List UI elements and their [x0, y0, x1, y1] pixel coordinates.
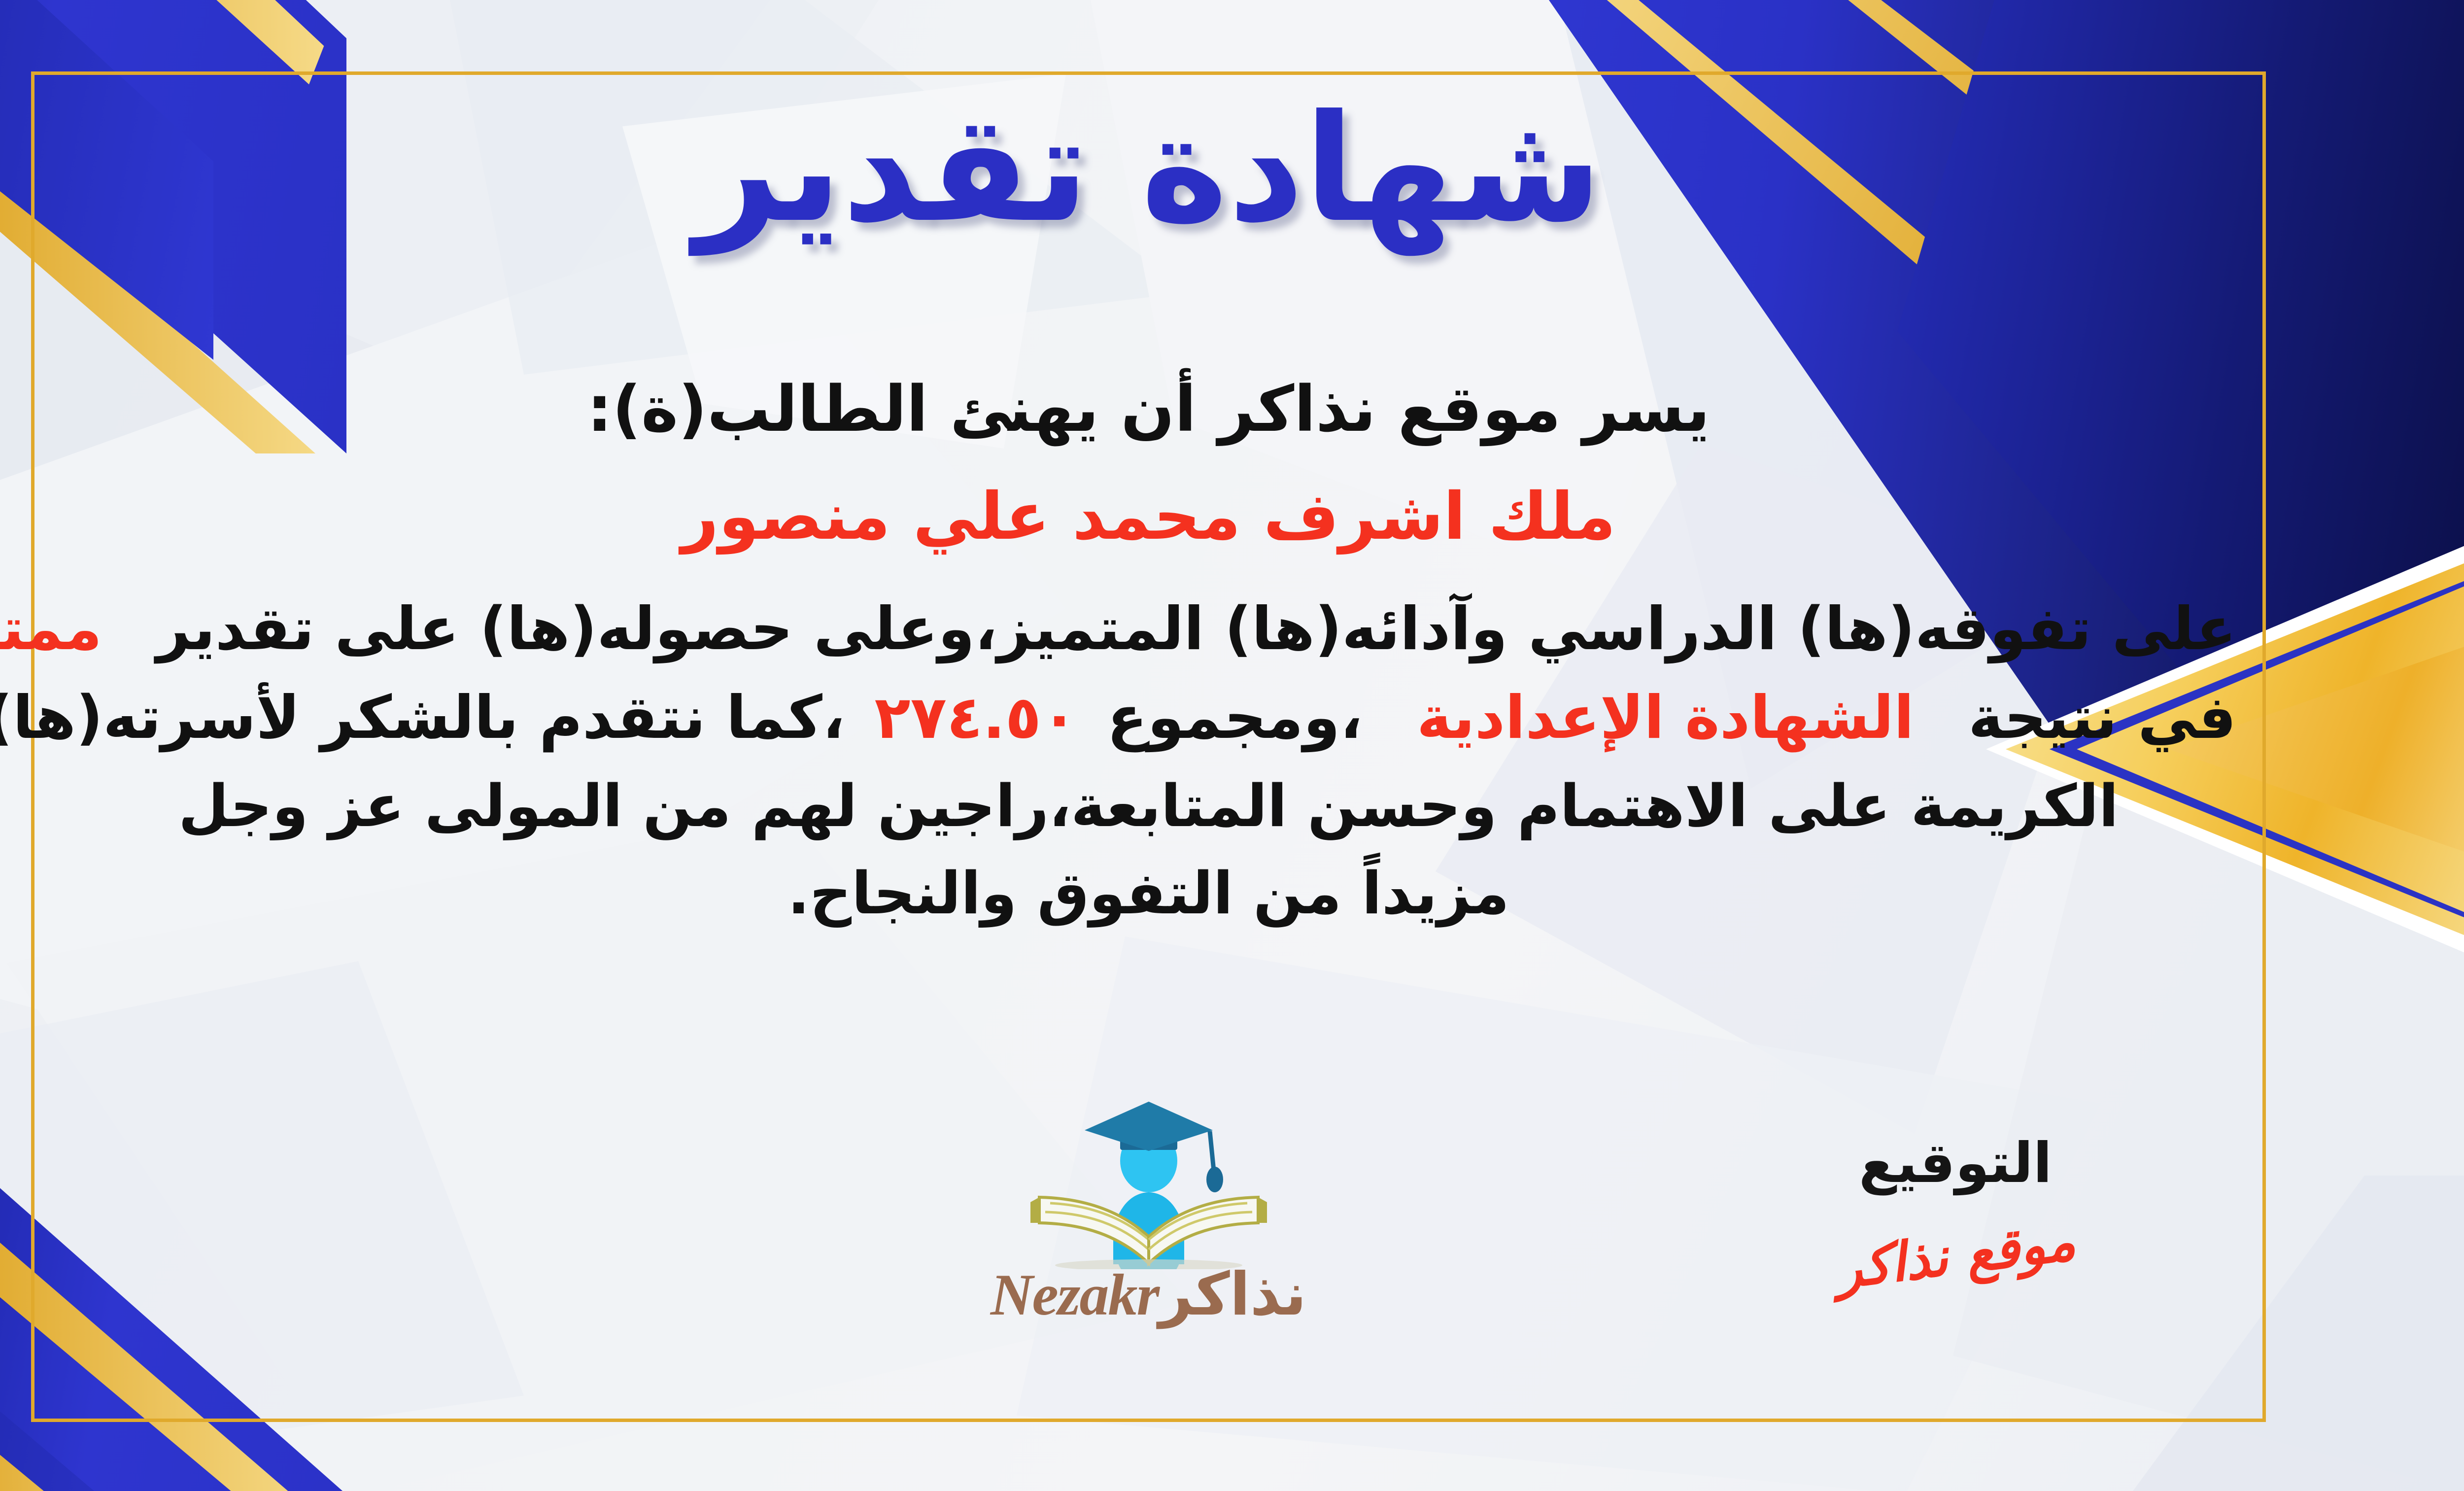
- achievement-text: على تفوقه(ها) الدراسي وآدائه(ها) المتميز…: [156, 595, 2236, 663]
- brand-logo: نذاكرNezakr: [947, 1092, 1351, 1329]
- thanks-text: ،كما نتقدم بالشكر لأسرته(ها): [0, 684, 845, 752]
- graduate-open-book-icon: [1011, 1092, 1287, 1269]
- exam-prefix: في نتيجة: [1968, 684, 2236, 752]
- signature-mark: موقع نذاكر: [1732, 1198, 2180, 1314]
- certificate-footer: التوقيع موقع نذاكر: [31, 1077, 2266, 1392]
- certificate-content: شهادة تقدير يسر موقع نذاكر أن يهنئ الطال…: [31, 71, 2266, 1422]
- brand-name-latin: Nezakr: [991, 1262, 1159, 1327]
- signature-label: التوقيع: [1734, 1131, 2177, 1195]
- closing-line: مزيداً من التفوق والنجاح.: [61, 850, 2236, 937]
- total-prefix: ،ومجموع: [1107, 684, 1363, 752]
- exam-name: الشهادة الإعدادية: [1417, 684, 1914, 752]
- total-score: ٢٧٤.٥٠: [874, 684, 1077, 752]
- brand-name-arabic: نذاكر: [1159, 1260, 1306, 1329]
- certificate-body: يسر موقع نذاكر أن يهنئ الطالب(ة): ملك اش…: [61, 362, 2236, 937]
- student-name: ملك اشرف محمد علي منصور: [61, 468, 2236, 565]
- brand-name: نذاكرNezakr: [947, 1260, 1351, 1329]
- achievement-line: على تفوقه(ها) الدراسي وآدائه(ها) المتميز…: [61, 585, 2236, 674]
- signature-block: التوقيع موقع نذاكر: [1734, 1131, 2177, 1286]
- exam-line: في نتيجةالشهادة الإعدادية،ومجموع٢٧٤.٥٠،ك…: [61, 674, 2236, 763]
- grade-value: ممتاز: [0, 595, 102, 663]
- greeting-line: يسر موقع نذاكر أن يهنئ الطالب(ة):: [61, 362, 2236, 457]
- family-thanks-line: الكريمة على الاهتمام وحسن المتابعة،راجين…: [61, 763, 2236, 850]
- certificate-page: شهادة تقدير يسر موقع نذاكر أن يهنئ الطال…: [0, 0, 2464, 1491]
- page-title: شهادة تقدير: [31, 91, 2266, 246]
